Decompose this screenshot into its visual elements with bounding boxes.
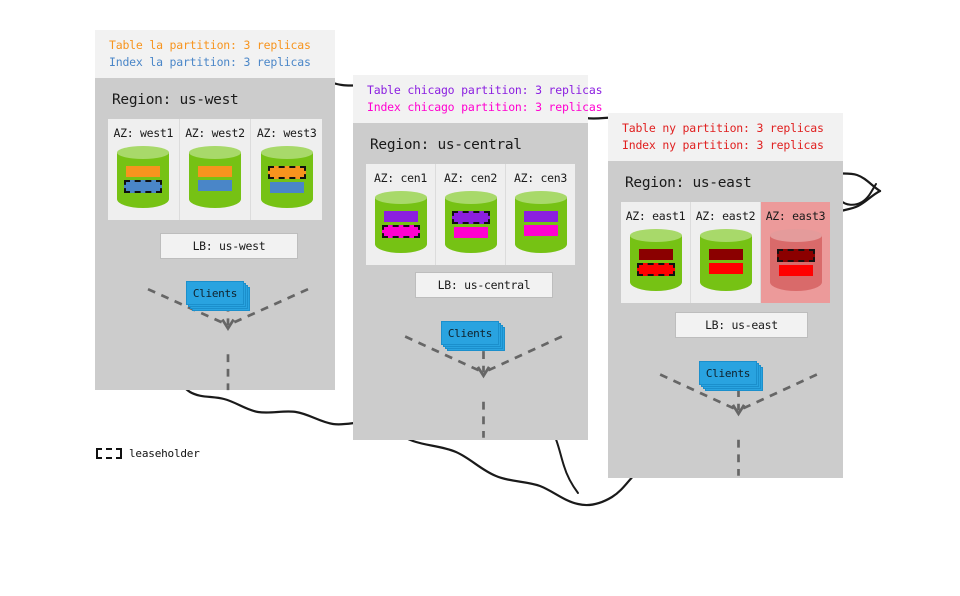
region-legend-us-east: Table ny partition: 3 replicasIndex ny p… [608,113,843,161]
clients-label: Clients [699,361,757,385]
replica-band-leaseholder [637,263,675,276]
clients-box-us-east[interactable]: Clients [699,361,759,387]
replica-bands [261,166,313,193]
legend-line: Index ny partition: 3 replicas [622,137,829,154]
az-cell-east2[interactable]: AZ: east2 [691,202,761,303]
database-node-icon [770,229,822,297]
replica-bands [445,211,497,238]
az-cell-cen1[interactable]: AZ: cen1 [366,164,436,265]
leaseholder-legend: leaseholder [96,447,200,460]
az-label: AZ: cen3 [514,171,567,185]
replica-band [126,166,160,177]
database-node-icon [515,191,567,259]
az-cell-west2[interactable]: AZ: west2 [180,119,252,220]
region-title: Region: us-west [112,92,322,108]
replica-bands [515,211,567,236]
load-balancer-us-west[interactable]: LB: us-west [160,233,298,259]
replica-band [709,249,743,260]
az-cell-east1[interactable]: AZ: east1 [621,202,691,303]
diagram-stage: Table la partition: 3 replicasIndex la p… [0,0,960,540]
legend-line: Table la partition: 3 replicas [109,37,321,54]
region-legend-us-west: Table la partition: 3 replicasIndex la p… [95,30,335,78]
replica-band [524,211,558,222]
load-balancer-us-central[interactable]: LB: us-central [415,272,553,298]
replica-bands [770,249,822,276]
database-node-icon [445,191,497,259]
database-node-icon [700,229,752,297]
az-label: AZ: east1 [626,209,686,223]
az-label: AZ: west1 [114,126,174,140]
replica-band [198,166,232,177]
az-row-us-east: AZ: east1AZ: east2AZ: east3 [621,202,830,303]
region-title: Region: us-east [625,175,830,191]
replica-band-leaseholder [777,249,815,262]
az-label: AZ: cen2 [444,171,497,185]
replica-band [198,180,232,191]
region-panel-us-east: Table ny partition: 3 replicasIndex ny p… [608,113,843,478]
az-cell-west3[interactable]: AZ: west3 [251,119,322,220]
az-label: AZ: east2 [696,209,756,223]
replica-band [454,227,488,238]
az-label: AZ: east3 [766,209,826,223]
clients-box-us-west[interactable]: Clients [186,281,246,307]
az-label: AZ: cen1 [374,171,427,185]
az-label: AZ: west3 [257,126,317,140]
load-balancer-us-east[interactable]: LB: us-east [675,312,808,338]
replica-band [639,249,673,260]
replica-bands [630,249,682,276]
leaseholder-legend-label: leaseholder [129,447,200,460]
replica-band-leaseholder [124,180,162,193]
database-node-icon [117,146,169,214]
region-panel-us-central: Table chicago partition: 3 replicasIndex… [353,75,588,440]
replica-bands [700,249,752,274]
database-node-icon [261,146,313,214]
replica-bands [375,211,427,238]
replica-bands [189,166,241,191]
database-node-icon [630,229,682,297]
region-legend-us-central: Table chicago partition: 3 replicasIndex… [353,75,588,123]
replica-band-leaseholder [452,211,490,224]
az-row-us-central: AZ: cen1AZ: cen2AZ: cen3 [366,164,575,265]
replica-band [384,211,418,222]
az-cell-east3[interactable]: AZ: east3 [761,202,830,303]
replica-band [779,265,813,276]
replica-band [270,182,304,193]
replica-bands [117,166,169,193]
legend-line: Index chicago partition: 3 replicas [367,99,574,116]
legend-line: Table ny partition: 3 replicas [622,120,829,137]
region-title: Region: us-central [370,137,575,153]
replica-band-leaseholder [382,225,420,238]
legend-line: Table chicago partition: 3 replicas [367,82,574,99]
replica-band [709,263,743,274]
az-cell-cen2[interactable]: AZ: cen2 [436,164,506,265]
az-cell-cen3[interactable]: AZ: cen3 [506,164,575,265]
replica-band-leaseholder [268,166,306,179]
clients-label: Clients [186,281,244,305]
clients-box-us-central[interactable]: Clients [441,321,501,347]
az-cell-west1[interactable]: AZ: west1 [108,119,180,220]
database-node-icon [189,146,241,214]
clients-label: Clients [441,321,499,345]
leaseholder-swatch-icon [96,448,122,459]
az-row-us-west: AZ: west1AZ: west2AZ: west3 [108,119,322,220]
replica-band [524,225,558,236]
legend-line: Index la partition: 3 replicas [109,54,321,71]
database-node-icon [375,191,427,259]
region-panel-us-west: Table la partition: 3 replicasIndex la p… [95,30,335,390]
az-label: AZ: west2 [185,126,245,140]
